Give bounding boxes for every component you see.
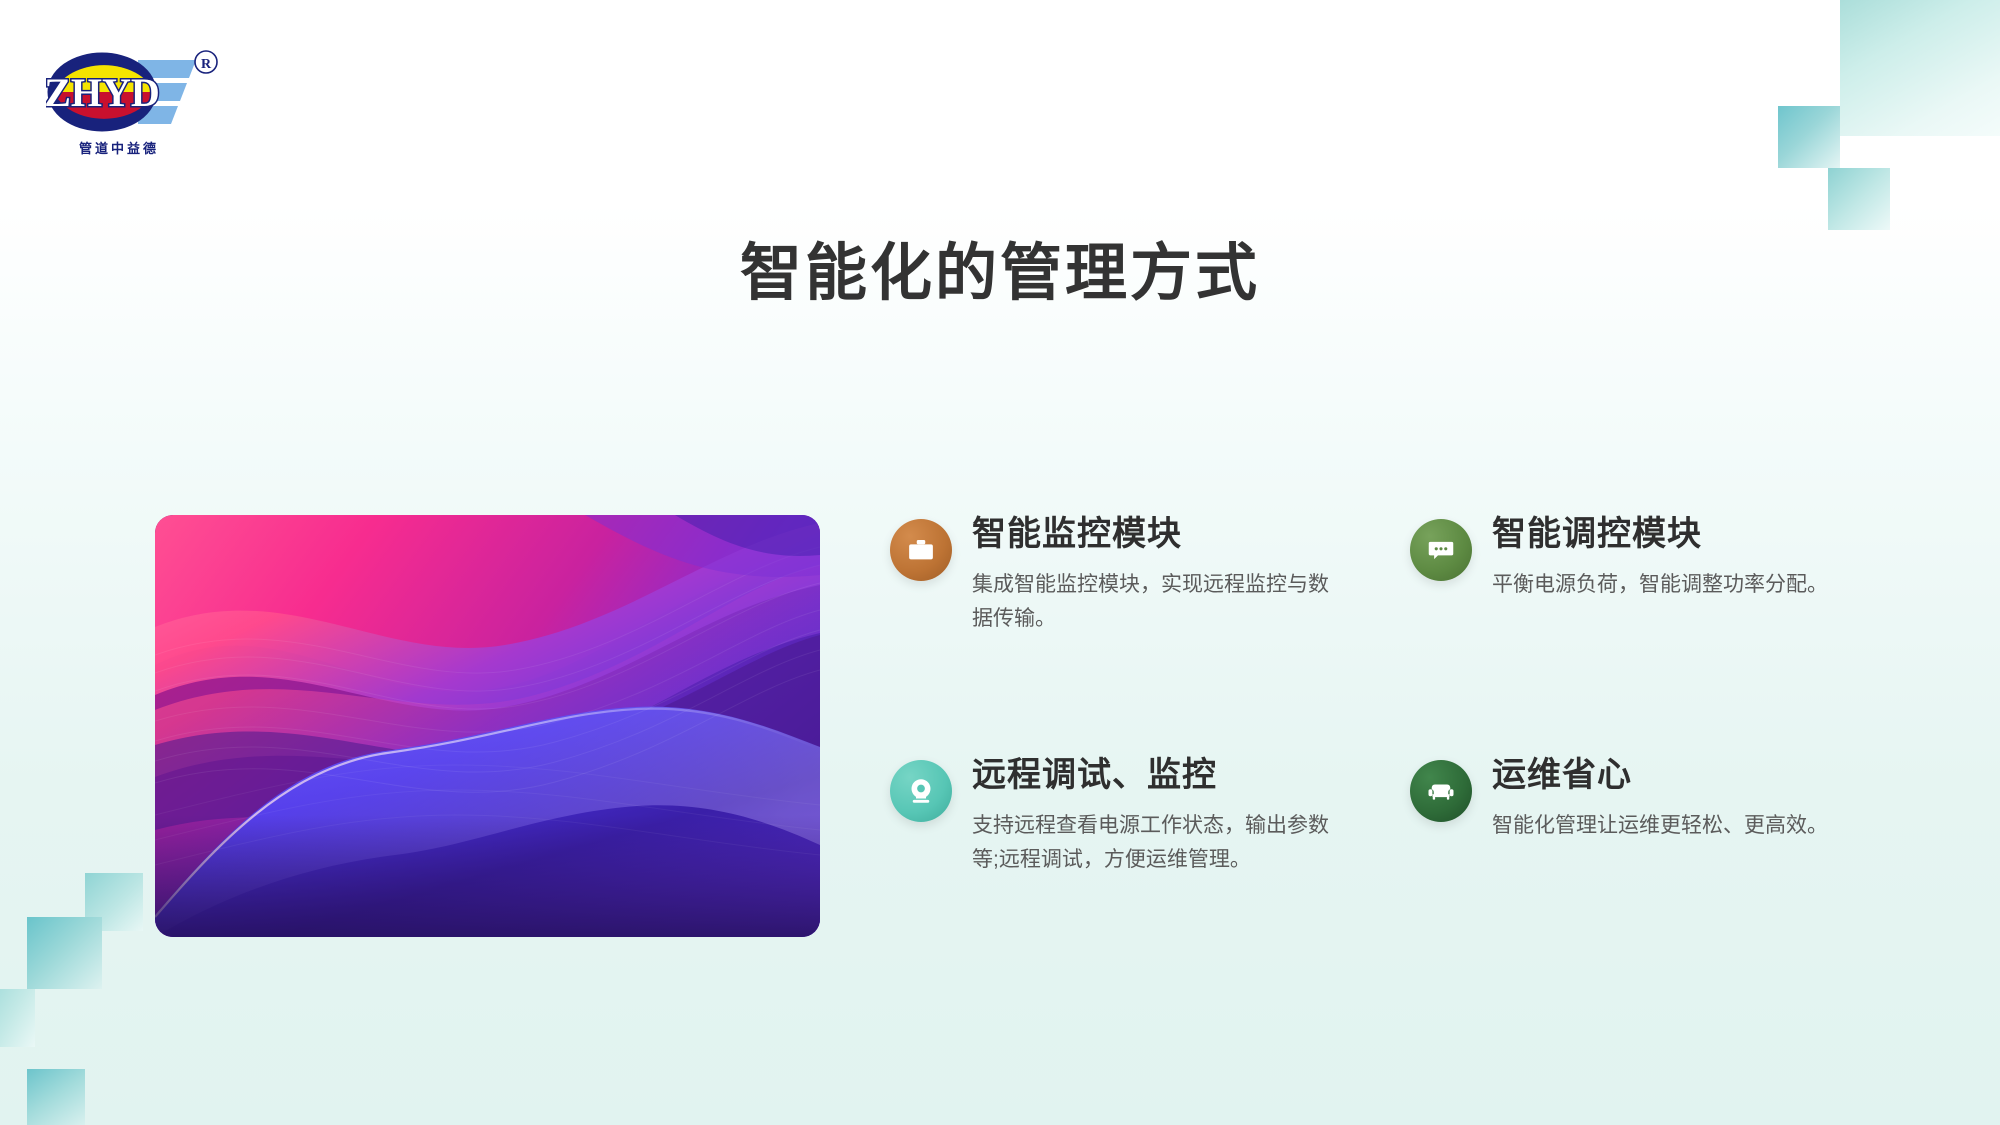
feature-item-easy-ops[interactable]: 运维省心 智能化管理让运维更轻松、更高效。 bbox=[1410, 756, 1890, 877]
webcam-glyph bbox=[906, 776, 936, 806]
briefcase-glyph bbox=[906, 535, 936, 565]
feature-title: 智能调控模块 bbox=[1492, 515, 1828, 556]
decor-square-bottom-left-large bbox=[27, 917, 102, 989]
chat-bubble-glyph bbox=[1426, 535, 1456, 565]
decor-square-top-right-large bbox=[1840, 0, 2000, 136]
feature-text-block: 远程调试、监控 支持远程查看电源工作状态，输出参数等;远程调试，方便运维管理。 bbox=[972, 756, 1332, 877]
decor-square-bottom-left-low bbox=[27, 1069, 85, 1125]
feature-text-block: 运维省心 智能化管理让运维更轻松、更高效。 bbox=[1492, 756, 1828, 843]
feature-description: 支持远程查看电源工作状态，输出参数等;远程调试，方便运维管理。 bbox=[972, 809, 1332, 877]
feature-title: 远程调试、监控 bbox=[972, 756, 1332, 797]
decor-square-bottom-left-edge bbox=[0, 989, 35, 1047]
svg-text:R: R bbox=[201, 57, 212, 72]
feature-item-remote-debug[interactable]: 远程调试、监控 支持远程查看电源工作状态，输出参数等;远程调试，方便运维管理。 bbox=[890, 756, 1410, 877]
webcam-icon bbox=[890, 760, 952, 822]
slide-canvas: ZHYD R 管道中益德 智能化的管理方式 bbox=[0, 0, 2000, 1125]
decor-square-top-right-medium bbox=[1778, 106, 1840, 168]
feature-grid: 智能监控模块 集成智能监控模块，实现远程监控与数据传输。 智能调控模块 平衡电源… bbox=[890, 515, 1890, 877]
hero-image bbox=[155, 515, 820, 937]
chat-bubble-icon bbox=[1410, 519, 1472, 581]
feature-text-block: 智能调控模块 平衡电源负荷，智能调整功率分配。 bbox=[1492, 515, 1828, 602]
feature-title: 智能监控模块 bbox=[972, 515, 1332, 556]
feature-text-block: 智能监控模块 集成智能监控模块，实现远程监控与数据传输。 bbox=[972, 515, 1332, 636]
page-title: 智能化的管理方式 bbox=[0, 222, 2000, 312]
sofa-glyph bbox=[1426, 776, 1456, 806]
brand-logo-subtitle: 管道中益德 bbox=[54, 138, 184, 157]
abstract-gradient-waves-graphic bbox=[155, 515, 820, 937]
briefcase-icon bbox=[890, 519, 952, 581]
feature-item-monitoring[interactable]: 智能监控模块 集成智能监控模块，实现远程监控与数据传输。 bbox=[890, 515, 1410, 636]
feature-item-regulation[interactable]: 智能调控模块 平衡电源负荷，智能调整功率分配。 bbox=[1410, 515, 1890, 636]
feature-description: 平衡电源负荷，智能调整功率分配。 bbox=[1492, 568, 1828, 602]
feature-description: 集成智能监控模块，实现远程监控与数据传输。 bbox=[972, 568, 1332, 636]
sofa-icon bbox=[1410, 760, 1472, 822]
brand-logo: ZHYD R 管道中益德 bbox=[46, 40, 226, 165]
feature-title: 运维省心 bbox=[1492, 756, 1828, 797]
feature-description: 智能化管理让运维更轻松、更高效。 bbox=[1492, 809, 1828, 843]
decor-square-top-right-small bbox=[1828, 168, 1890, 230]
svg-text:ZHYD: ZHYD bbox=[46, 70, 160, 115]
zhyd-logo-icon: ZHYD R bbox=[46, 40, 226, 140]
